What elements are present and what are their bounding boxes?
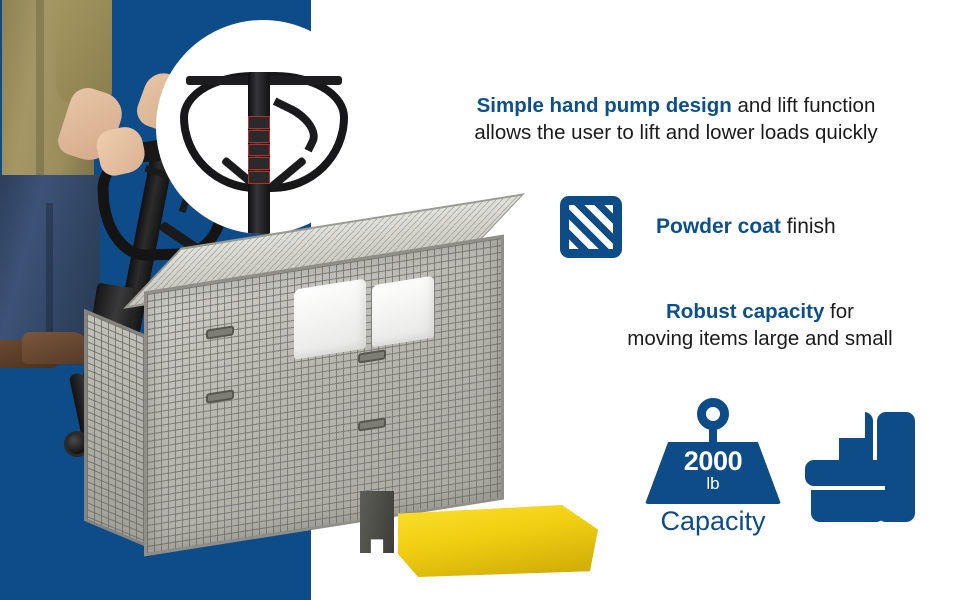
feature-coat-text: Powder coat finish <box>656 213 836 241</box>
fork-support-foot-front <box>360 491 394 553</box>
feature-robust-capacity: Robust capacity for moving items large a… <box>560 298 960 353</box>
hatched-square-icon <box>560 196 622 258</box>
yellow-pallet-truck-with-wire-mesh-container <box>60 255 580 600</box>
capacity-unit: lb <box>645 474 781 494</box>
pallet-jack-icon-notch <box>839 412 865 438</box>
warning-decal <box>248 157 270 170</box>
feature-capacity-headline: Robust capacity <box>666 300 824 323</box>
pallet-jack-icon-fork-bottom <box>811 490 885 522</box>
warning-decal <box>248 171 270 184</box>
feature-pump-body-line2: allows the user to lift and lower loads … <box>474 121 877 144</box>
warning-decal <box>248 116 270 129</box>
pallet-jack-icon-gap <box>811 486 885 490</box>
wire-mesh-container <box>144 234 504 556</box>
feature-capacity-body-line2: moving items large and small <box>627 327 892 350</box>
warning-decal <box>248 144 270 157</box>
promo-banner: Simple hand pump design and lift functio… <box>0 0 970 600</box>
weight-icon: 2000 lb Capacity <box>645 398 781 548</box>
spec-icon-row: 2000 lb Capacity <box>645 398 925 548</box>
feature-pump-headline: Simple hand pump design <box>477 94 732 117</box>
feature-coat-body: finish <box>781 215 836 238</box>
feature-pump-body-line1: and lift function <box>732 94 876 117</box>
warning-decal <box>248 130 270 143</box>
pallet-truck-fork <box>398 505 598 577</box>
mesh-front-panel <box>144 234 504 556</box>
capacity-value: 2000 <box>645 446 781 477</box>
inset-warning-decals <box>248 116 270 184</box>
feature-powder-coat: Powder coat finish <box>560 196 960 258</box>
handle-closeup-inset <box>156 20 370 234</box>
white-jug <box>294 278 366 359</box>
feature-capacity-text: Robust capacity for moving items large a… <box>560 298 960 353</box>
feature-simple-hand-pump: Simple hand pump design and lift functio… <box>406 92 946 147</box>
feature-capacity-body-line1: for <box>824 300 854 323</box>
capacity-label: Capacity <box>639 506 787 537</box>
feature-pump-text: Simple hand pump design and lift functio… <box>406 92 946 147</box>
pallet-jack-icon <box>805 412 915 522</box>
pallet-jack-icon-fork-top <box>805 460 885 486</box>
feature-coat-headline: Powder coat <box>656 215 781 238</box>
white-jug <box>372 276 434 348</box>
